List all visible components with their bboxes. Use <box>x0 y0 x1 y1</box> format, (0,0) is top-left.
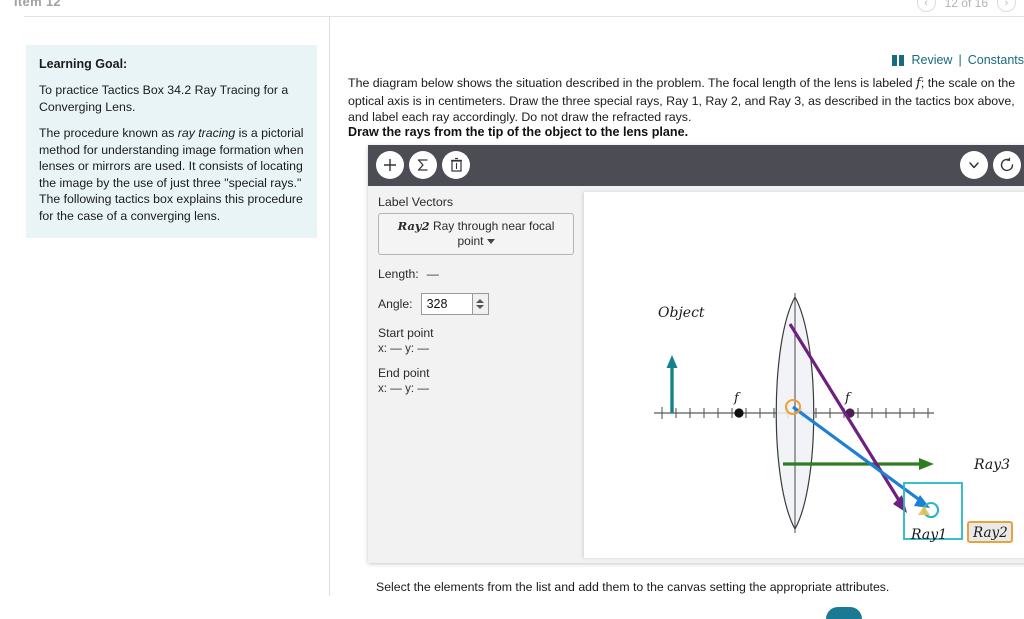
end-point-label: End point <box>378 366 574 380</box>
ray1-label[interactable]: Ray1 <box>910 527 947 543</box>
plus-icon[interactable] <box>376 151 404 179</box>
learning-goal-title: Learning Goal: <box>39 57 304 71</box>
object-label: Object <box>658 305 705 321</box>
chevron-right-icon[interactable]: › <box>997 0 1016 12</box>
angle-stepper[interactable] <box>473 293 489 315</box>
label-vectors-panel: Label Vectors Ray2 Ray through near foca… <box>368 186 584 563</box>
end-y-label: y: <box>405 382 414 395</box>
pager: ‹ 12 of 16 › <box>917 0 1016 12</box>
problem-prompt: Draw the rays from the tip of the object… <box>348 125 1020 139</box>
end-x-label: x: <box>378 382 387 395</box>
problem-body-a: The diagram below shows the situation de… <box>348 76 916 90</box>
length-row: Length: — <box>378 267 574 281</box>
start-y-value: — <box>417 342 429 355</box>
start-y-label: y: <box>405 342 414 355</box>
page-header: Item 12 ‹ 12 of 16 › <box>0 0 1024 14</box>
spinner-down-icon[interactable] <box>476 305 484 309</box>
start-x-value: — <box>390 342 402 355</box>
focal-point-left: f <box>733 391 744 418</box>
start-point-block: Start point x: — y: — <box>378 326 574 355</box>
lg-p2-italic: ray tracing <box>178 126 235 140</box>
item-label: Item 12 <box>14 0 61 9</box>
vector-select-dropdown[interactable]: Ray2 Ray through near focal point <box>378 213 574 255</box>
learning-goal-paragraph-1: To practice Tactics Box 34.2 Ray Tracing… <box>39 82 304 115</box>
learning-goal-paragraph-2: The procedure known as ray tracing is a … <box>39 125 304 224</box>
review-separator: | <box>958 53 961 67</box>
submit-button[interactable] <box>826 607 862 619</box>
start-point-label: Start point <box>378 326 574 340</box>
selected-vector-name: Ray2 <box>398 219 430 233</box>
lg-p2-part-b: is a pictorial method for understanding … <box>39 126 304 223</box>
length-label: Length: <box>378 267 419 281</box>
end-point-coords: x: — y: — <box>378 382 574 395</box>
right-column: Review | Constants The diagram below sho… <box>330 17 1024 596</box>
drawing-canvas[interactable]: Object f f <box>584 192 1024 558</box>
ray3-label[interactable]: Ray3 <box>973 457 1010 473</box>
chevron-down-icon[interactable] <box>960 151 988 179</box>
trash-icon[interactable] <box>442 151 470 179</box>
object-arrow[interactable] <box>667 355 678 413</box>
ray-diagram[interactable]: Object f f <box>584 192 1024 558</box>
problem-statement: The diagram below shows the situation de… <box>348 75 1020 126</box>
left-column: Learning Goal: To practice Tactics Box 3… <box>0 17 330 596</box>
learning-goal-box: Learning Goal: To practice Tactics Box 3… <box>26 45 317 238</box>
ray2-label-chip[interactable]: Ray2 <box>968 522 1012 542</box>
start-x-label: x: <box>378 342 387 355</box>
caret-down-icon[interactable] <box>487 239 495 244</box>
angle-input[interactable] <box>421 293 473 315</box>
ray1-vector[interactable] <box>793 407 930 508</box>
angle-row: Angle: <box>378 293 574 315</box>
focal-label-left: f <box>733 391 741 406</box>
angle-label: Angle: <box>378 297 413 311</box>
spinner-up-icon[interactable] <box>476 299 484 303</box>
ray-tracing-applet: ? Label Vectors Ray2 Ray through near fo… <box>368 145 1024 563</box>
panel-title: Label Vectors <box>378 195 574 209</box>
focal-label-right: f <box>844 391 852 406</box>
end-x-value: — <box>390 382 402 395</box>
end-y-value: — <box>417 382 429 395</box>
undo-icon[interactable] <box>993 151 1021 179</box>
lg-p2-part-a: The procedure known as <box>39 126 178 140</box>
length-value: — <box>427 267 439 281</box>
chevron-left-icon[interactable]: ‹ <box>917 0 936 12</box>
applet-instruction-note: Select the elements from the list and ad… <box>376 580 889 594</box>
end-point-block: End point x: — y: — <box>378 366 574 395</box>
constants-link[interactable]: Constants <box>968 53 1024 67</box>
start-point-coords: x: — y: — <box>378 342 574 355</box>
ray2-label: Ray2 <box>972 525 1008 541</box>
applet-toolbar: ? <box>368 145 1024 186</box>
book-icon <box>892 55 905 66</box>
sigma-icon[interactable] <box>409 151 437 179</box>
pager-text: 12 of 16 <box>945 0 988 10</box>
review-constants-bar: Review | Constants <box>892 53 1024 67</box>
review-link[interactable]: Review <box>911 53 952 67</box>
